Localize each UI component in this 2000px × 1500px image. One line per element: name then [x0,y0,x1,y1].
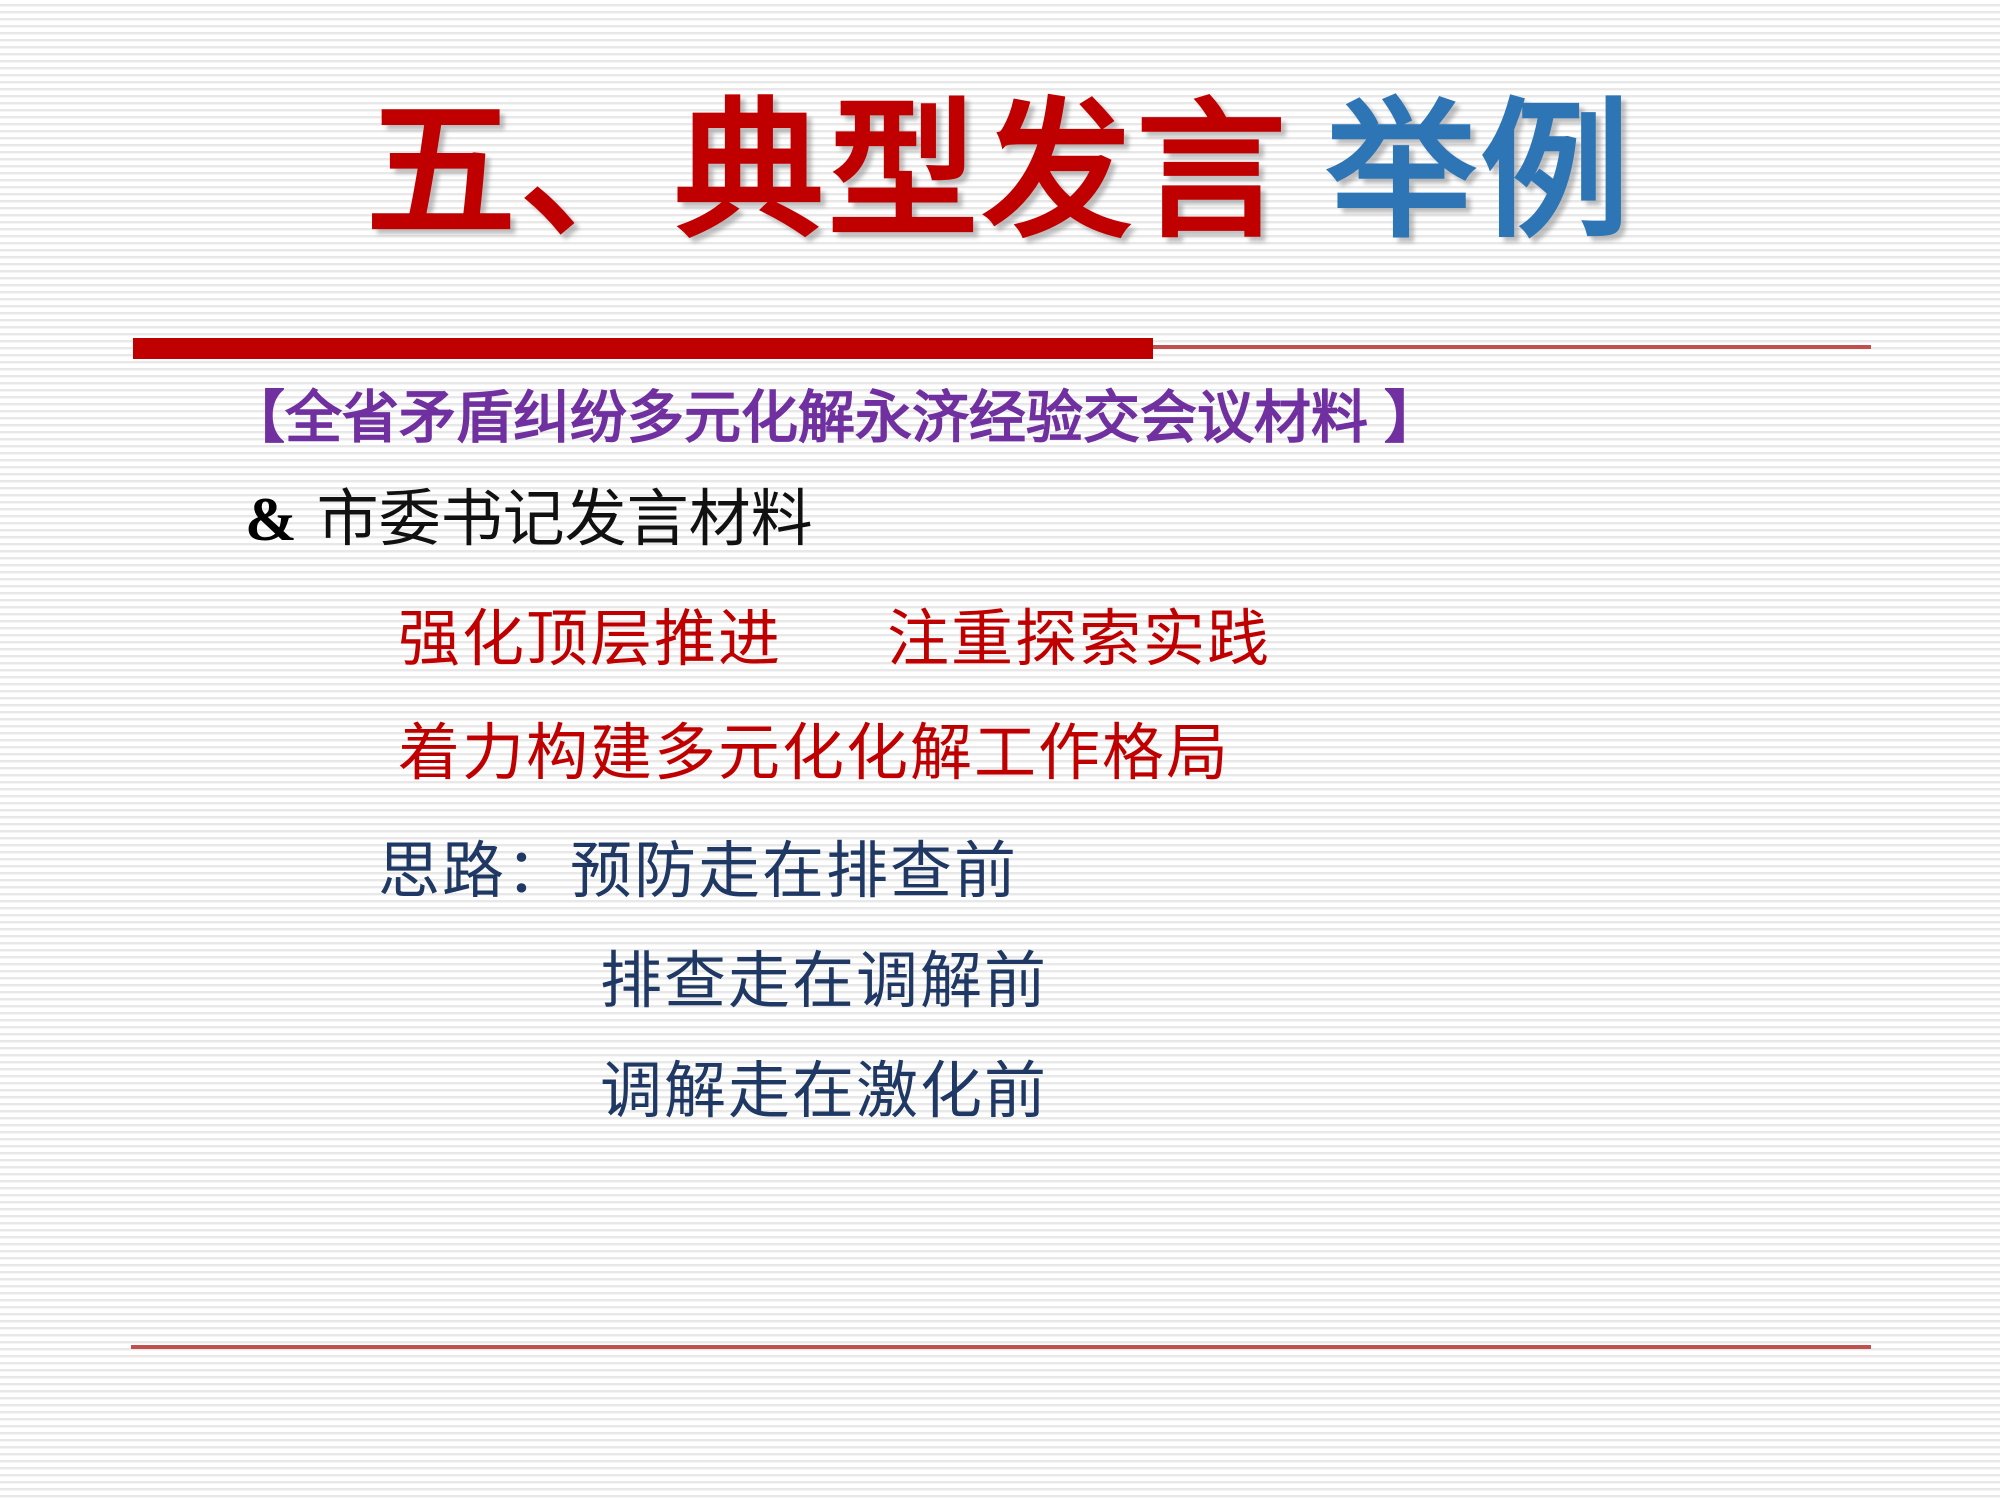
blue-point-row-2: 排查走在调解前 [600,930,1048,1020]
title-underline-thick [133,338,1153,359]
title-blue-part: 举例 [1326,87,1634,255]
page-title: 五、典型发言举例 [0,96,2000,246]
subtitle-bracketed-source: 【全省矛盾纠纷多元化解永济经验交会议材料 】 [228,372,1441,454]
blue-point-row-1: 思路：预防走在排查前 [378,820,1018,910]
speaker-material-line: &市委书记发言材料 [245,468,813,558]
red-point-1-right: 注重探索实践 [887,606,1271,674]
red-point-row-1: 强化顶层推进注重探索实践 [398,588,1271,678]
title-underline-thin [1153,345,1871,349]
blue-point-row-3: 调解走在激化前 [600,1040,1048,1130]
title-red-part: 五、典型发言 [366,87,1290,255]
speaker-material-label: 市委书记发言材料 [317,486,813,554]
footer-divider [131,1345,1871,1349]
red-point-1-left: 强化顶层推进 [398,606,782,674]
ampersand-bullet-icon: & [245,486,297,554]
slide-canvas: 五、典型发言举例 【全省矛盾纠纷多元化解永济经验交会议材料 】 &市委书记发言材… [0,0,2000,1500]
red-point-row-2: 着力构建多元化化解工作格局 [398,702,1230,792]
